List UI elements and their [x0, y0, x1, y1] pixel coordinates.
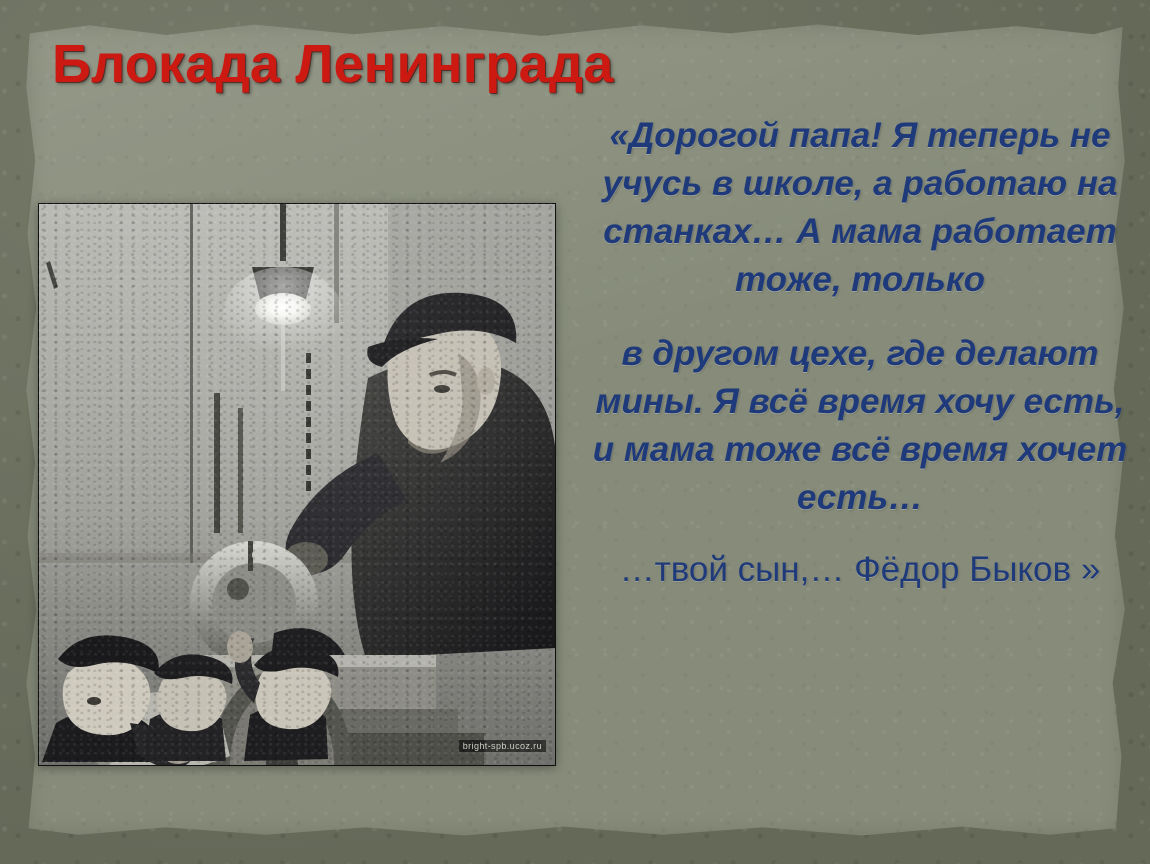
page-title: Блокада Ленинграда [52, 34, 614, 94]
historical-photo: bright-spb.ucoz.ru [38, 203, 556, 766]
slide: Блокада Ленинграда [0, 0, 1150, 864]
quote-paragraph-1: «Дорогой папа! Я теперь не учусь в школе… [592, 112, 1128, 304]
quote-block: «Дорогой папа! Я теперь не учусь в школе… [592, 112, 1128, 594]
archive-photo-icon [38, 203, 556, 766]
quote-signature: …твой сын,… Фёдор Быков » [592, 546, 1128, 594]
quote-paragraph-2: в другом цехе, где делают мины. Я всё вр… [592, 330, 1128, 522]
photo-watermark: bright-spb.ucoz.ru [459, 740, 546, 752]
